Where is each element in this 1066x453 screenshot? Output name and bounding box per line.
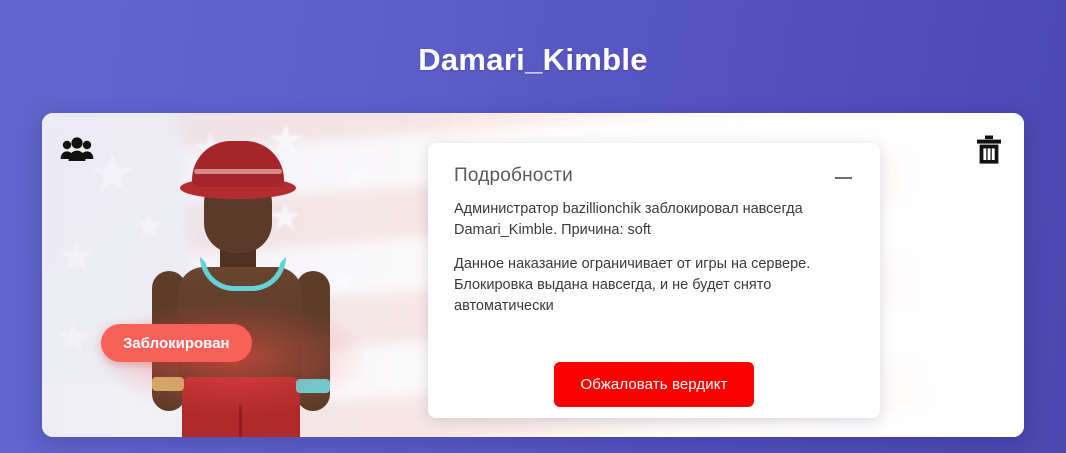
minus-icon[interactable]: [835, 177, 852, 179]
details-panel-title: Подробности: [454, 165, 573, 187]
ban-summary-text: Администратор bazillionchik заблокировал…: [454, 199, 854, 241]
appeal-button-row: Обжаловать вердикт: [428, 362, 880, 407]
details-panel-header: Подробности: [428, 143, 880, 187]
status-badge: Заблокирован: [101, 324, 252, 362]
profile-card: ★ ★ ★ ★ ★ ★ ★ ★ ★: [42, 113, 1024, 437]
ban-description-text: Данное наказание ограничивает от игры на…: [454, 254, 824, 317]
details-panel-body: Администратор bazillionchik заблокировал…: [428, 187, 880, 317]
group-people-icon[interactable]: [60, 137, 94, 163]
page-title: Damari_Kimble: [0, 40, 1066, 80]
character-avatar: [120, 119, 360, 437]
trash-icon[interactable]: [976, 135, 1002, 165]
details-panel: Подробности Администратор bazillionchik …: [428, 143, 880, 418]
appeal-verdict-button[interactable]: Обжаловать вердикт: [554, 362, 754, 407]
